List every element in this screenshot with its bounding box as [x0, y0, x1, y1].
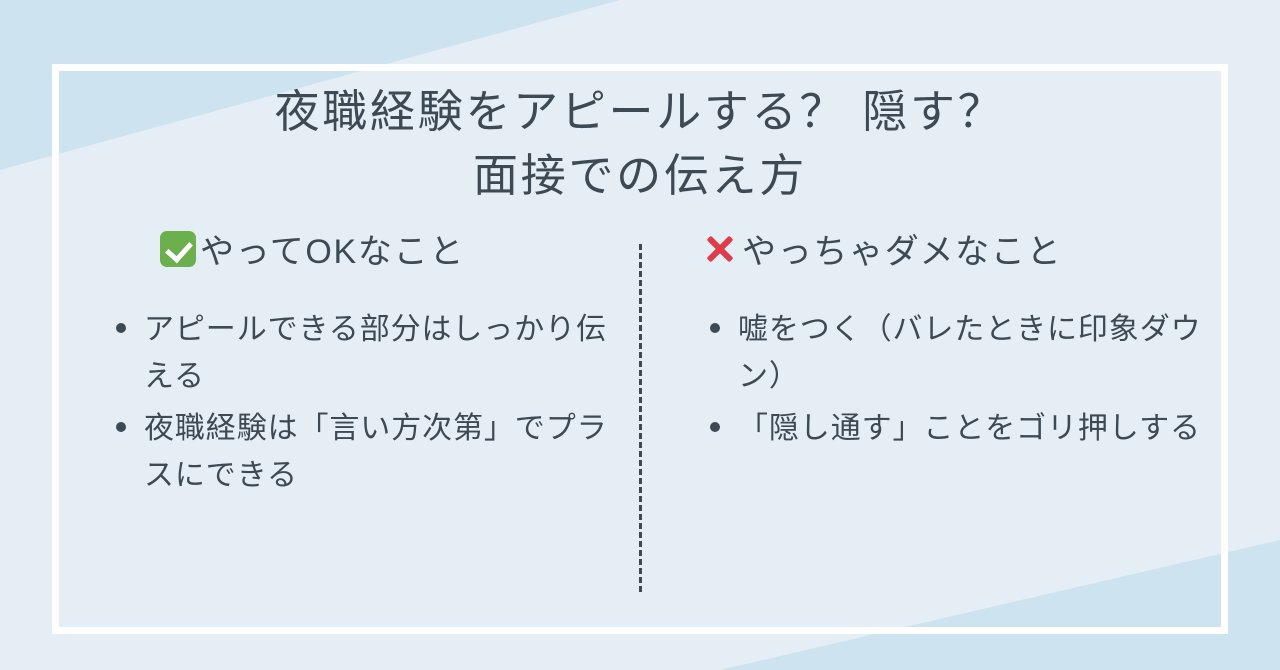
cross-mark-icon [702, 231, 738, 267]
column-ok: やってOKなこと アピールできる部分はしっかり伝える 夜職経験は「言い方次第」で… [52, 222, 640, 504]
column-ok-list: アピールできる部分はしっかり伝える 夜職経験は「言い方次第」でプラスにできる [108, 306, 612, 500]
list-item: 「隠し通す」ことをゴリ押しする [702, 405, 1210, 452]
page-title: 夜職経験をアピールする？ 隠す？ 面接での伝え方 [52, 64, 1228, 208]
title-line-2: 面接での伝え方 [52, 144, 1228, 208]
poster-canvas: 夜職経験をアピールする？ 隠す？ 面接での伝え方 やってOKなこと アピールでき… [0, 0, 1280, 670]
column-divider [639, 244, 642, 592]
column-ng: やっちゃダメなこと 嘘をつく（バレたときに印象ダウン） 「隠し通す」ことをゴリ押… [640, 222, 1228, 504]
list-item: 嘘をつく（バレたときに印象ダウン） [702, 306, 1210, 401]
poster-content: 夜職経験をアピールする？ 隠す？ 面接での伝え方 やってOKなこと アピールでき… [52, 64, 1228, 634]
column-ok-heading: やってOKなこと [108, 222, 612, 276]
column-ng-heading: やっちゃダメなこと [702, 222, 1210, 276]
list-item: 夜職経験は「言い方次第」でプラスにできる [108, 405, 612, 500]
column-ng-heading-label: やっちゃダメなこと [742, 224, 1062, 273]
white-check-mark-icon [160, 231, 196, 267]
list-item: アピールできる部分はしっかり伝える [108, 306, 612, 401]
column-ng-list: 嘘をつく（バレたときに印象ダウン） 「隠し通す」ことをゴリ押しする [702, 306, 1210, 452]
comparison-columns: やってOKなこと アピールできる部分はしっかり伝える 夜職経験は「言い方次第」で… [52, 222, 1228, 504]
title-line-1: 夜職経験をアピールする？ 隠す？ [52, 80, 1228, 144]
column-ok-heading-label: やってOKなこと [200, 224, 465, 273]
